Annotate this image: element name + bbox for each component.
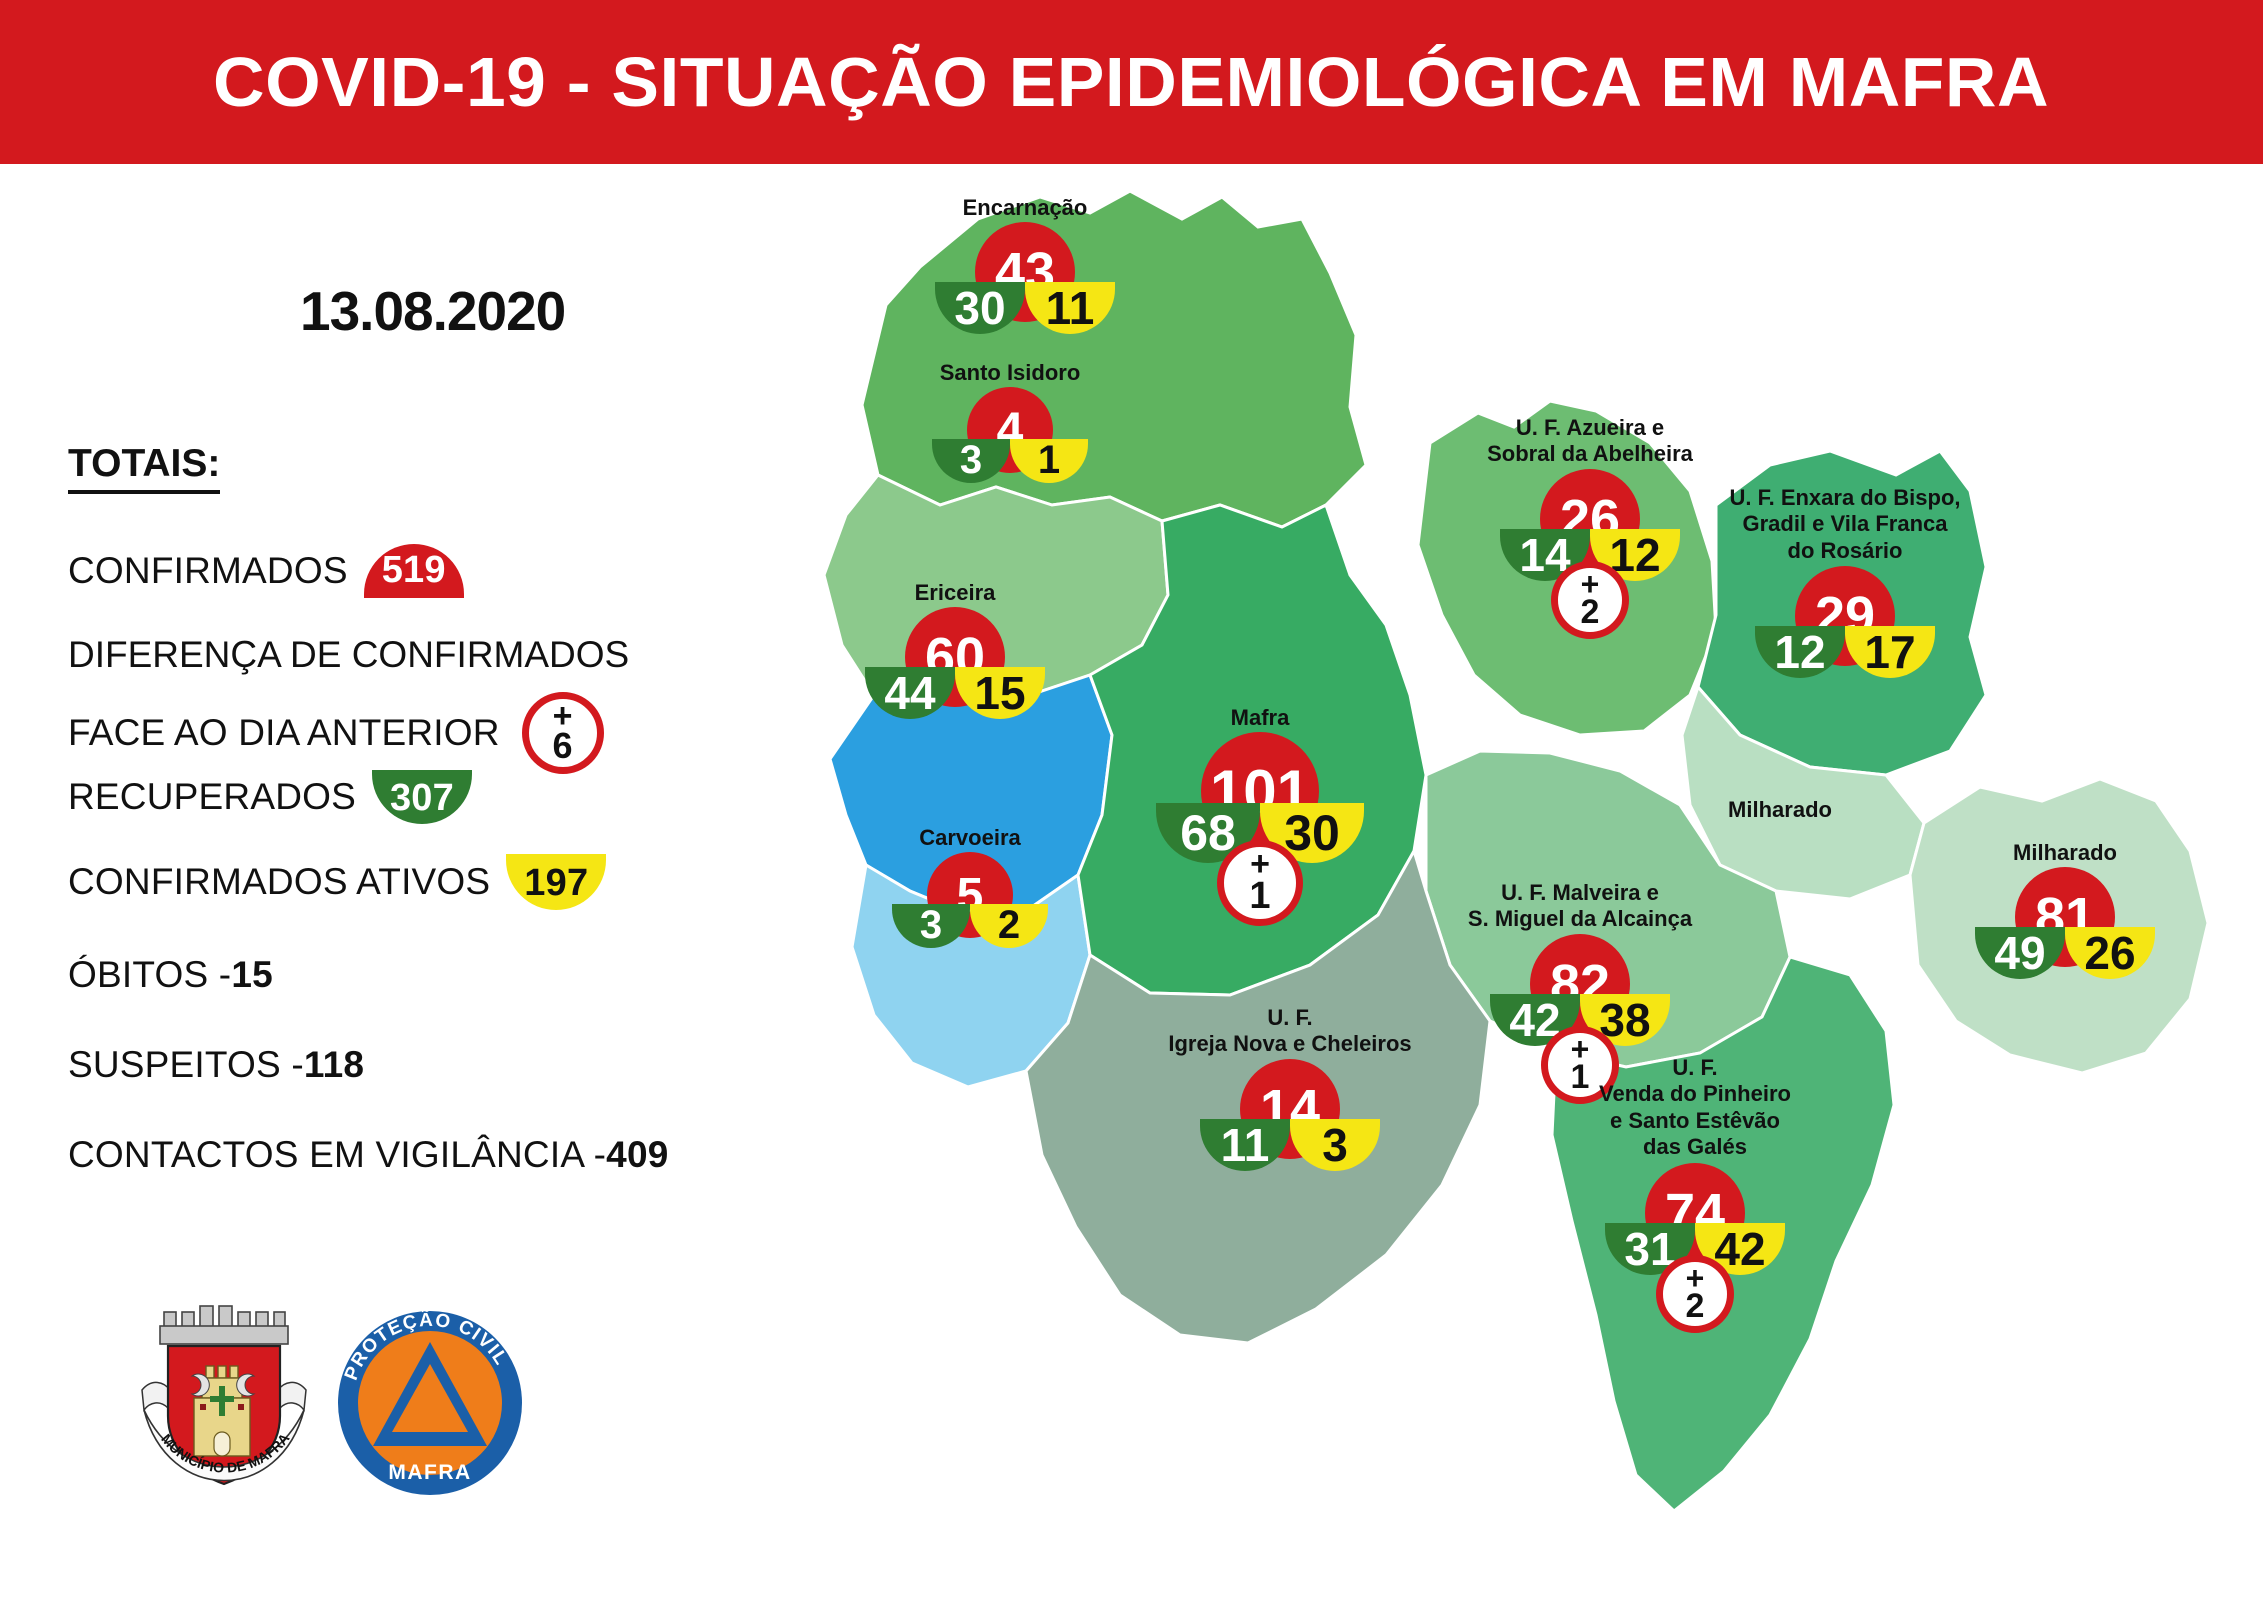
mafra-municipality-map: Milharado Encarnação433011Santo Isidoro4…	[790, 175, 2263, 1600]
map-marker-label-line: S. Miguel da Alcainça	[1468, 906, 1692, 932]
stat-obitos-label: ÓBITOS -	[68, 954, 231, 996]
footer-logos: MUNICÍPIO DE MAFRA PROTEÇÃO CIVIL MAFRA	[130, 1290, 560, 1530]
map-marker-label-line: U. F. Enxara do Bispo,	[1729, 485, 1960, 511]
marker-difference-value: 1	[1249, 878, 1270, 914]
stat-ativos: CONFIRMADOS ATIVOS 197	[68, 854, 606, 910]
stat-suspeitos: SUSPEITOS - 118	[68, 1044, 364, 1086]
stat-confirmados-badge: 519	[364, 544, 464, 598]
map-marker-label-malveira-s-miguel-da-alcainca: U. F. Malveira eS. Miguel da Alcainça	[1468, 880, 1692, 933]
marker-halves-encarnacao: 3011	[935, 282, 1115, 334]
marker-recovered-milharado: 49	[1975, 927, 2065, 979]
stat-obitos-value: 15	[231, 954, 273, 996]
stat-recuperados: RECUPERADOS 307	[68, 770, 472, 824]
stat-contactos: CONTACTOS EM VIGILÂNCIA - 409	[68, 1134, 669, 1176]
marker-active-milharado: 26	[2065, 927, 2155, 979]
marker-halves-enxara-do-bispo-gradil-vila-franca-do-rosario: 1217	[1755, 626, 1935, 678]
marker-recovered-enxara-do-bispo-gradil-vila-franca-do-rosario: 12	[1755, 626, 1845, 678]
map-marker-label-line: e Santo Estêvão	[1599, 1108, 1791, 1134]
marker-halves-carvoeira: 32	[892, 904, 1048, 948]
municipio-de-mafra-coat-of-arms-icon: MUNICÍPIO DE MAFRA	[130, 1290, 320, 1520]
marker-halves-santo-isidoro: 31	[932, 439, 1088, 483]
marker-difference-mafra: +1	[1217, 840, 1303, 926]
stat-confirmados: CONFIRMADOS 519	[68, 544, 464, 598]
marker-active-carvoeira: 2	[970, 904, 1048, 948]
totals-heading: TOTAIS:	[68, 442, 220, 494]
stat-recuperados-badge: 307	[372, 770, 472, 824]
map-marker-label-santo-isidoro: Santo Isidoro	[940, 360, 1081, 386]
marker-active-ericeira: 15	[955, 667, 1045, 719]
map-marker-label-milharado: Milharado	[2013, 840, 2117, 866]
map-marker-label-line: Ericeira	[915, 580, 996, 606]
stat-contactos-label: CONTACTOS EM VIGILÂNCIA -	[68, 1134, 606, 1176]
marker-difference-value: 2	[1686, 1290, 1705, 1322]
infographic-root: COVID-19 - SITUAÇÃO EPIDEMIOLÓGICA EM MA…	[0, 0, 2263, 1600]
map-marker-label-line: Milharado	[2013, 840, 2117, 866]
marker-active-santo-isidoro: 1	[1010, 439, 1088, 483]
map-marker-label-enxara-do-bispo-gradil-vila-franca-do-rosario: U. F. Enxara do Bispo,Gradil e Vila Fran…	[1729, 485, 1960, 564]
map-marker-label-line: U. F.	[1599, 1055, 1791, 1081]
stat-obitos: ÓBITOS - 15	[68, 954, 273, 996]
marker-difference-value: 2	[1581, 596, 1600, 628]
protecao-civil-caption-bottom: MAFRA	[388, 1461, 471, 1484]
map-marker-label-line: Gradil e Vila Franca	[1729, 511, 1960, 537]
marker-difference-azueira-sobral-da-abelheira: +2	[1551, 561, 1629, 639]
map-marker-label-line: Venda do Pinheiro	[1599, 1081, 1791, 1107]
marker-active-enxara-do-bispo-gradil-vila-franca-do-rosario: 17	[1845, 626, 1935, 678]
map-marker-label-line: das Galés	[1599, 1134, 1791, 1160]
map-marker-label-line: Mafra	[1231, 705, 1290, 731]
map-marker-label-line: Santo Isidoro	[940, 360, 1081, 386]
map-marker-label-mafra: Mafra	[1231, 705, 1290, 731]
map-marker-label-ericeira: Ericeira	[915, 580, 996, 606]
map-marker-label-line: Carvoeira	[919, 825, 1021, 851]
stat-confirmados-label: CONFIRMADOS	[68, 550, 348, 592]
marker-recovered-encarnacao: 30	[935, 282, 1025, 334]
stat-ativos-badge: 197	[506, 854, 606, 910]
map-marker-label-encarnacao: Encarnação	[963, 195, 1088, 221]
map-marker-label-line: do Rosário	[1729, 538, 1960, 564]
stat-suspeitos-value: 118	[304, 1044, 364, 1086]
page-header: COVID-19 - SITUAÇÃO EPIDEMIOLÓGICA EM MA…	[0, 0, 2263, 164]
stat-diferenca-label-line1: DIFERENÇA DE CONFIRMADOS	[68, 632, 629, 678]
marker-difference-venda-do-pinheiro-santo-estevao-das-gales: +2	[1656, 1255, 1734, 1333]
region-label-milharado: Milharado	[1728, 797, 1832, 823]
marker-halves-milharado: 4926	[1975, 927, 2155, 979]
stat-recuperados-label: RECUPERADOS	[68, 776, 356, 818]
report-date: 13.08.2020	[300, 279, 565, 343]
map-marker-label-igreja-nova-e-cheleiros: U. F.Igreja Nova e Cheleiros	[1168, 1005, 1411, 1058]
stat-diferenca-label-line2: FACE AO DIA ANTERIOR	[68, 712, 500, 754]
stat-diferenca-value: 6	[553, 730, 573, 762]
marker-recovered-ericeira: 44	[865, 667, 955, 719]
marker-difference-sign: +	[1250, 852, 1270, 878]
map-marker-label-carvoeira: Carvoeira	[919, 825, 1021, 851]
map-marker-label-line: U. F. Azueira e	[1487, 415, 1693, 441]
map-marker-label-line: Encarnação	[963, 195, 1088, 221]
stat-ativos-label: CONFIRMADOS ATIVOS	[68, 861, 490, 903]
marker-halves-ericeira: 4415	[865, 667, 1045, 719]
marker-recovered-carvoeira: 3	[892, 904, 970, 948]
stat-suspeitos-label: SUSPEITOS -	[68, 1044, 304, 1086]
stat-diferenca-badge: + 6	[522, 692, 604, 774]
map-marker-label-line: Sobral da Abelheira	[1487, 441, 1693, 467]
marker-active-encarnacao: 11	[1025, 282, 1115, 334]
stat-diferenca: FACE AO DIA ANTERIOR + 6	[68, 692, 604, 774]
marker-halves-igreja-nova-e-cheleiros: 113	[1200, 1119, 1380, 1171]
marker-recovered-igreja-nova-e-cheleiros: 11	[1200, 1119, 1290, 1171]
marker-recovered-santo-isidoro: 3	[932, 439, 1010, 483]
stat-contactos-value: 409	[606, 1134, 668, 1176]
marker-active-igreja-nova-e-cheleiros: 3	[1290, 1119, 1380, 1171]
map-marker-label-line: Igreja Nova e Cheleiros	[1168, 1031, 1411, 1057]
map-marker-label-venda-do-pinheiro-santo-estevao-das-gales: U. F.Venda do Pinheiroe Santo Estêvãodas…	[1599, 1055, 1791, 1161]
map-marker-label-line: U. F.	[1168, 1005, 1411, 1031]
map-marker-label-azueira-sobral-da-abelheira: U. F. Azueira eSobral da Abelheira	[1487, 415, 1693, 468]
page-title: COVID-19 - SITUAÇÃO EPIDEMIOLÓGICA EM MA…	[213, 42, 2049, 122]
marker-difference-value: 1	[1571, 1061, 1590, 1093]
map-marker-label-line: U. F. Malveira e	[1468, 880, 1692, 906]
protecao-civil-mafra-logo-icon: PROTEÇÃO CIVIL MAFRA	[335, 1308, 525, 1498]
